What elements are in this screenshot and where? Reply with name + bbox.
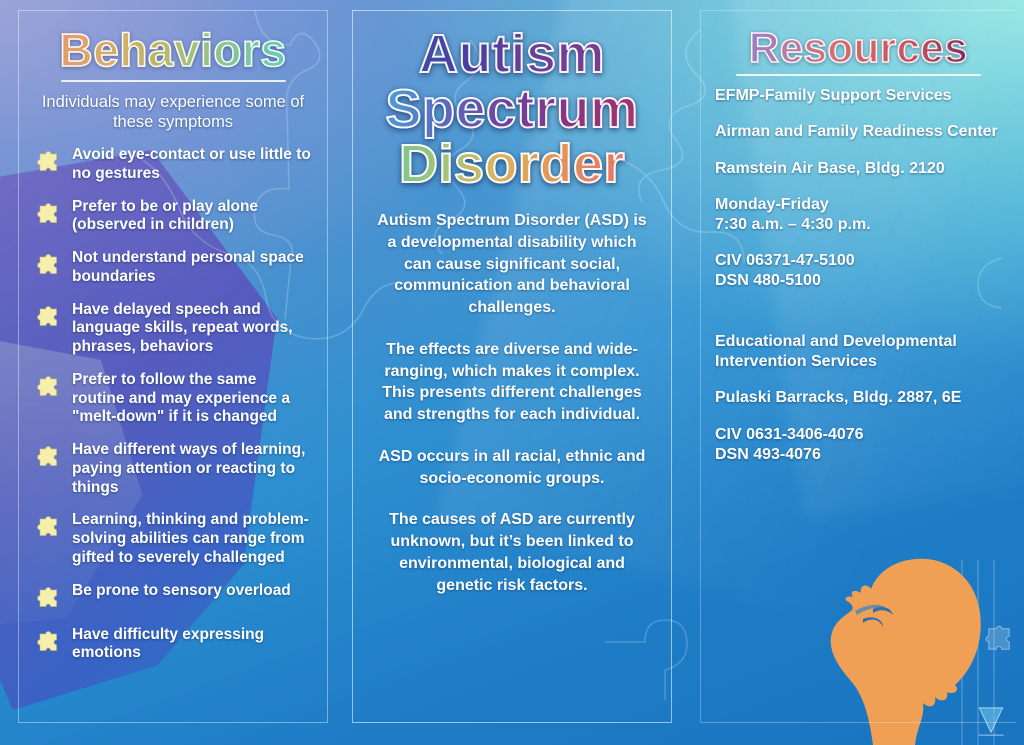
behaviors-heading-rule bbox=[61, 80, 286, 82]
list-item: Prefer to follow the same routine and ma… bbox=[33, 371, 313, 427]
resource-address-2: Pulaski Barracks, Bldg. 2887, 6E bbox=[715, 388, 1002, 408]
resources-heading: Resources bbox=[715, 27, 1002, 70]
list-item-label: Prefer to follow the same routine and ma… bbox=[72, 371, 313, 427]
puzzle-piece-icon bbox=[33, 628, 63, 656]
behaviors-panel: Behaviors Individuals may experience som… bbox=[18, 10, 328, 723]
puzzle-piece-icon bbox=[33, 148, 63, 176]
list-item: Be prone to sensory overload bbox=[33, 582, 313, 612]
page-title-line-3: Disorder bbox=[399, 137, 625, 192]
list-item-label: Have difficulty expressing emotions bbox=[72, 626, 313, 664]
description-paragraph-3: ASD occurs in all racial, ethnic and soc… bbox=[373, 446, 651, 490]
puzzle-piece-icon bbox=[33, 373, 63, 401]
behaviors-heading: Behaviors bbox=[33, 27, 313, 74]
list-item-label: Have delayed speech and language skills,… bbox=[72, 301, 313, 357]
resource-location-1: Airman and Family Readiness Center bbox=[715, 122, 1002, 142]
brochure-poster: Behaviors Individuals may experience som… bbox=[0, 0, 1024, 745]
list-item-label: Be prone to sensory overload bbox=[72, 582, 291, 601]
list-item: Prefer to be or play alone (observed in … bbox=[33, 198, 313, 236]
page-title: Autism Spectrum Disorder bbox=[367, 27, 657, 192]
list-item-label: Have different ways of learning, paying … bbox=[72, 441, 313, 497]
description-paragraph-2: The effects are diverse and wide-ranging… bbox=[373, 339, 651, 426]
puzzle-piece-icon bbox=[33, 200, 63, 228]
list-item-label: Avoid eye-contact or use little to no ge… bbox=[72, 146, 313, 184]
list-item: Have different ways of learning, paying … bbox=[33, 441, 313, 497]
resource-phone-2: CIV 0631-3406-4076DSN 493-4076 bbox=[715, 425, 1002, 464]
puzzle-piece-icon bbox=[33, 303, 63, 331]
resource-phone-1: CIV 06371-47-5100DSN 480-5100 bbox=[715, 251, 1002, 290]
resources-heading-rule bbox=[736, 74, 981, 76]
resources-panel: Resources EFMP-Family Support Services A… bbox=[700, 10, 1016, 723]
behaviors-bullet-list: Avoid eye-contact or use little to no ge… bbox=[33, 146, 313, 663]
list-item: Learning, thinking and problem-solving a… bbox=[33, 511, 313, 567]
resource-service-name-2: Educational and Developmental Interventi… bbox=[715, 332, 1002, 371]
resource-address-1: Ramstein Air Base, Bldg. 2120 bbox=[715, 159, 1002, 179]
list-item: Avoid eye-contact or use little to no ge… bbox=[33, 146, 313, 184]
resource-hours-1: Monday-Friday7:30 a.m. – 4:30 p.m. bbox=[715, 195, 1002, 234]
resource-service-name-1: EFMP-Family Support Services bbox=[715, 86, 1002, 106]
title-panel: Autism Spectrum Disorder Autism Spectrum… bbox=[352, 10, 672, 723]
puzzle-piece-icon bbox=[33, 251, 63, 279]
puzzle-piece-icon bbox=[33, 584, 63, 612]
list-item-label: Not understand personal space boundaries bbox=[72, 249, 313, 287]
page-title-line-2: Spectrum bbox=[385, 82, 638, 137]
list-item: Not understand personal space boundaries bbox=[33, 249, 313, 287]
list-item: Have difficulty expressing emotions bbox=[33, 626, 313, 664]
behaviors-lead-text: Individuals may experience some of these… bbox=[41, 92, 305, 132]
list-item-label: Prefer to be or play alone (observed in … bbox=[72, 198, 313, 236]
description-paragraph-4: The causes of ASD are currently unknown,… bbox=[373, 509, 651, 596]
puzzle-piece-icon bbox=[33, 513, 63, 541]
page-title-line-1: Autism bbox=[419, 27, 605, 82]
list-item: Have delayed speech and language skills,… bbox=[33, 301, 313, 357]
puzzle-piece-icon bbox=[33, 443, 63, 471]
list-item-label: Learning, thinking and problem-solving a… bbox=[72, 511, 313, 567]
description-paragraph-1: Autism Spectrum Disorder (ASD) is a deve… bbox=[373, 210, 651, 319]
